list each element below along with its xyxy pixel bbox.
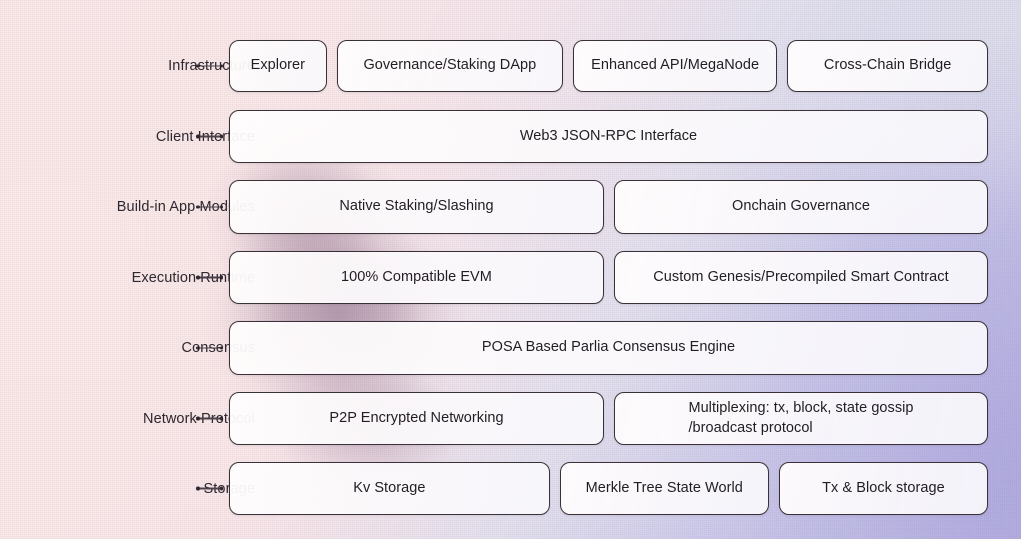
component-box-label: Governance/Staking DApp [363, 56, 536, 76]
component-box-label: Multiplexing: tx, block, state gossip/br… [688, 399, 913, 438]
connector-stroke [200, 418, 220, 419]
connector-dot-end [220, 417, 224, 421]
component-box-merkle-tree-state-world[interactable]: Merkle Tree State World [560, 462, 769, 515]
connector-line-storage [196, 485, 223, 492]
component-box-label: Tx & Block storage [822, 479, 945, 499]
component-box-100-compatible-evm[interactable]: 100% Compatible EVM [229, 251, 604, 304]
component-box-label: Explorer [251, 56, 305, 76]
layer-boxes-client-interface: Web3 JSON-RPC Interface [229, 110, 988, 163]
layer-boxes-consensus: POSA Based Parlia Consensus Engine [229, 321, 988, 375]
component-box-label: Merkle Tree State World [586, 479, 743, 499]
layer-row-consensus: ConsensusPOSA Based Parlia Consensus Eng… [0, 321, 1021, 375]
layer-row-infrastructure: InfrastructureExplorerGovernance/Staking… [0, 40, 1021, 92]
connector-line-infrastructure [196, 63, 223, 70]
layer-row-build-in-app-modules: Build-in App ModulesNative Staking/Slash… [0, 180, 1021, 234]
layer-rows: InfrastructureExplorerGovernance/Staking… [0, 0, 1021, 539]
connector-line-network-protocol [196, 415, 223, 422]
component-box-label: P2P Encrypted Networking [329, 409, 503, 429]
component-box-label: Web3 JSON-RPC Interface [520, 127, 697, 147]
connector-line-client-interface [196, 133, 223, 140]
layer-boxes-network-protocol: P2P Encrypted NetworkingMultiplexing: tx… [229, 392, 988, 445]
connector-stroke [200, 277, 220, 278]
connector-stroke [200, 206, 220, 207]
component-box-kv-storage[interactable]: Kv Storage [229, 462, 550, 515]
component-box-tx-block-storage[interactable]: Tx & Block storage [779, 462, 988, 515]
architecture-diagram: InfrastructureExplorerGovernance/Staking… [0, 0, 1021, 539]
component-box-onchain-governance[interactable]: Onchain Governance [614, 180, 988, 234]
component-box-custom-genesis-precompiled-smart-contract[interactable]: Custom Genesis/Precompiled Smart Contrac… [614, 251, 988, 304]
component-box-label: Custom Genesis/Precompiled Smart Contrac… [653, 268, 948, 288]
connector-stroke [200, 136, 220, 137]
component-box-label: Enhanced API/MegaNode [591, 56, 759, 76]
component-box-label: Kv Storage [353, 479, 425, 499]
connector-dot-end [220, 205, 224, 209]
component-box-posa-based-parlia-consensus-engine[interactable]: POSA Based Parlia Consensus Engine [229, 321, 988, 375]
connector-line-execution-runtime [196, 274, 223, 281]
component-box-label: POSA Based Parlia Consensus Engine [482, 338, 735, 358]
component-box-governance-staking-dapp[interactable]: Governance/Staking DApp [337, 40, 563, 92]
connector-line-consensus [196, 345, 223, 352]
layer-row-storage: StorageKv StorageMerkle Tree State World… [0, 462, 1021, 515]
connector-stroke [200, 347, 220, 348]
layer-row-execution-runtime: Execution Runtime100% Compatible EVMCust… [0, 251, 1021, 304]
component-box-label: 100% Compatible EVM [341, 268, 492, 288]
component-box-cross-chain-bridge[interactable]: Cross-Chain Bridge [787, 40, 988, 92]
layer-boxes-execution-runtime: 100% Compatible EVMCustom Genesis/Precom… [229, 251, 988, 304]
component-box-multiplexing-tx-block-state-gossip[interactable]: Multiplexing: tx, block, state gossip/br… [614, 392, 988, 445]
layer-row-network-protocol: Network ProtocolP2P Encrypted Networking… [0, 392, 1021, 445]
connector-dot-end [220, 64, 224, 68]
connector-dot-end [220, 346, 224, 350]
connector-dot-end [220, 135, 224, 139]
connector-dot-end [220, 487, 224, 491]
layer-boxes-infrastructure: ExplorerGovernance/Staking DAppEnhanced … [229, 40, 988, 92]
component-box-web3-json-rpc-interface[interactable]: Web3 JSON-RPC Interface [229, 110, 988, 163]
component-box-label: Cross-Chain Bridge [824, 56, 951, 76]
connector-dot-end [220, 276, 224, 280]
connector-line-build-in-app-modules [196, 204, 223, 211]
connector-stroke [200, 488, 220, 489]
component-box-native-staking-slashing[interactable]: Native Staking/Slashing [229, 180, 604, 234]
component-box-p2p-encrypted-networking[interactable]: P2P Encrypted Networking [229, 392, 604, 445]
layer-boxes-storage: Kv StorageMerkle Tree State WorldTx & Bl… [229, 462, 988, 515]
component-box-enhanced-api-meganode[interactable]: Enhanced API/MegaNode [573, 40, 777, 92]
layer-boxes-build-in-app-modules: Native Staking/SlashingOnchain Governanc… [229, 180, 988, 234]
connector-stroke [200, 65, 220, 66]
layer-row-client-interface: Client InterfaceWeb3 JSON-RPC Interface [0, 110, 1021, 163]
component-box-label: Native Staking/Slashing [339, 197, 493, 217]
component-box-explorer[interactable]: Explorer [229, 40, 327, 92]
component-box-label: Onchain Governance [732, 197, 870, 217]
